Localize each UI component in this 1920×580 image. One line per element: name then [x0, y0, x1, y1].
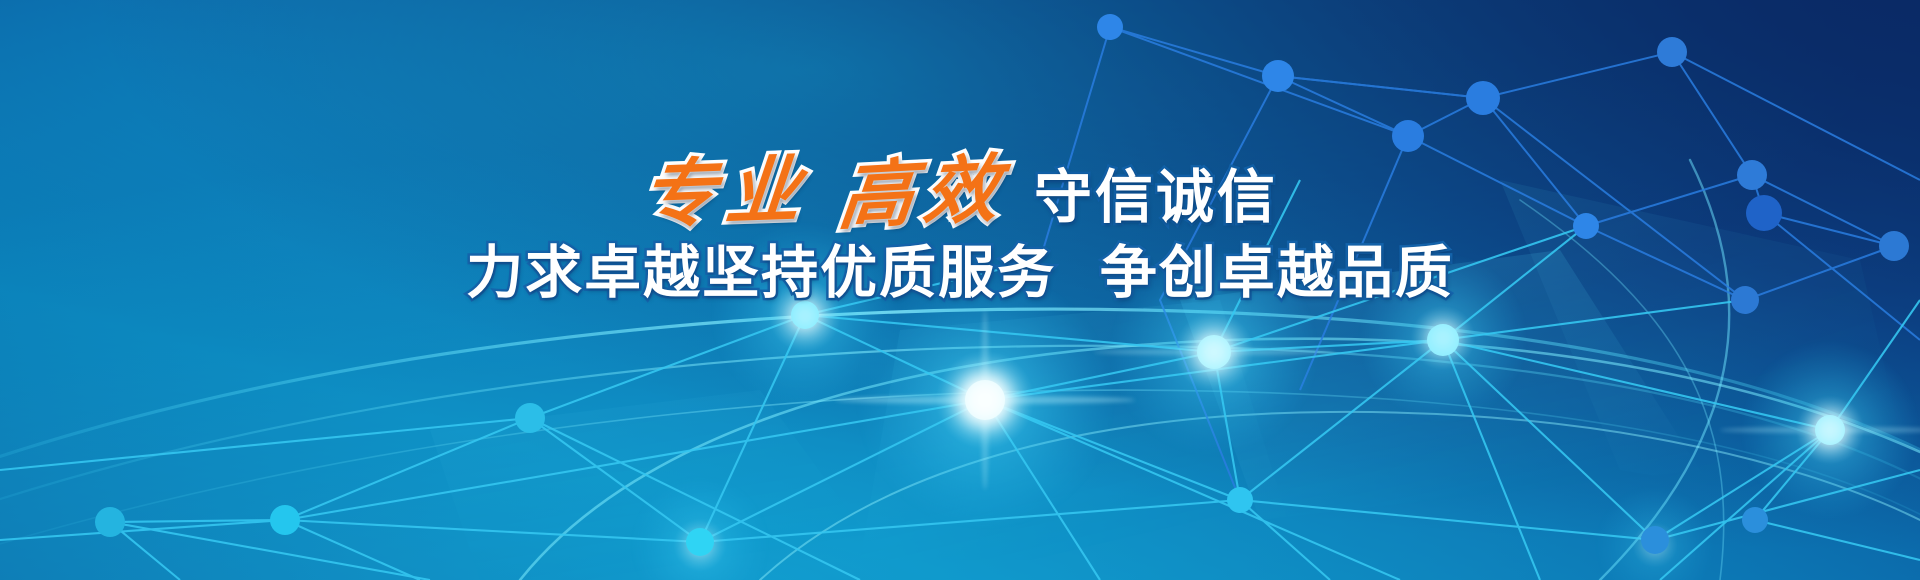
node-top-left-upper	[1262, 60, 1294, 92]
node-upper-mid	[1466, 81, 1500, 115]
node-bottom-mid-b	[686, 528, 714, 556]
node-bottom-left-a	[95, 507, 125, 537]
node-bottom-right	[1641, 526, 1669, 554]
node-right-edge	[1879, 231, 1909, 261]
node-globe-right	[1573, 213, 1599, 239]
promo-banner: 专业 高效 守信诚信 力求卓越坚持优质服务 争创卓越品质	[0, 0, 1920, 580]
node-top-left-outer	[1097, 14, 1123, 40]
node-center-upper	[1392, 120, 1424, 152]
node-mid-low-c	[1227, 487, 1253, 513]
node-bottom-left-b	[270, 505, 300, 535]
node-right-lower	[1742, 507, 1768, 533]
node-upper-right	[1657, 37, 1687, 67]
node-bottom-mid	[515, 403, 545, 433]
node-mid-right-a	[1737, 160, 1767, 190]
node-right-mid-low	[1731, 286, 1759, 314]
node-mid-right-b	[1746, 195, 1782, 231]
network-background-graphic	[0, 0, 1920, 580]
